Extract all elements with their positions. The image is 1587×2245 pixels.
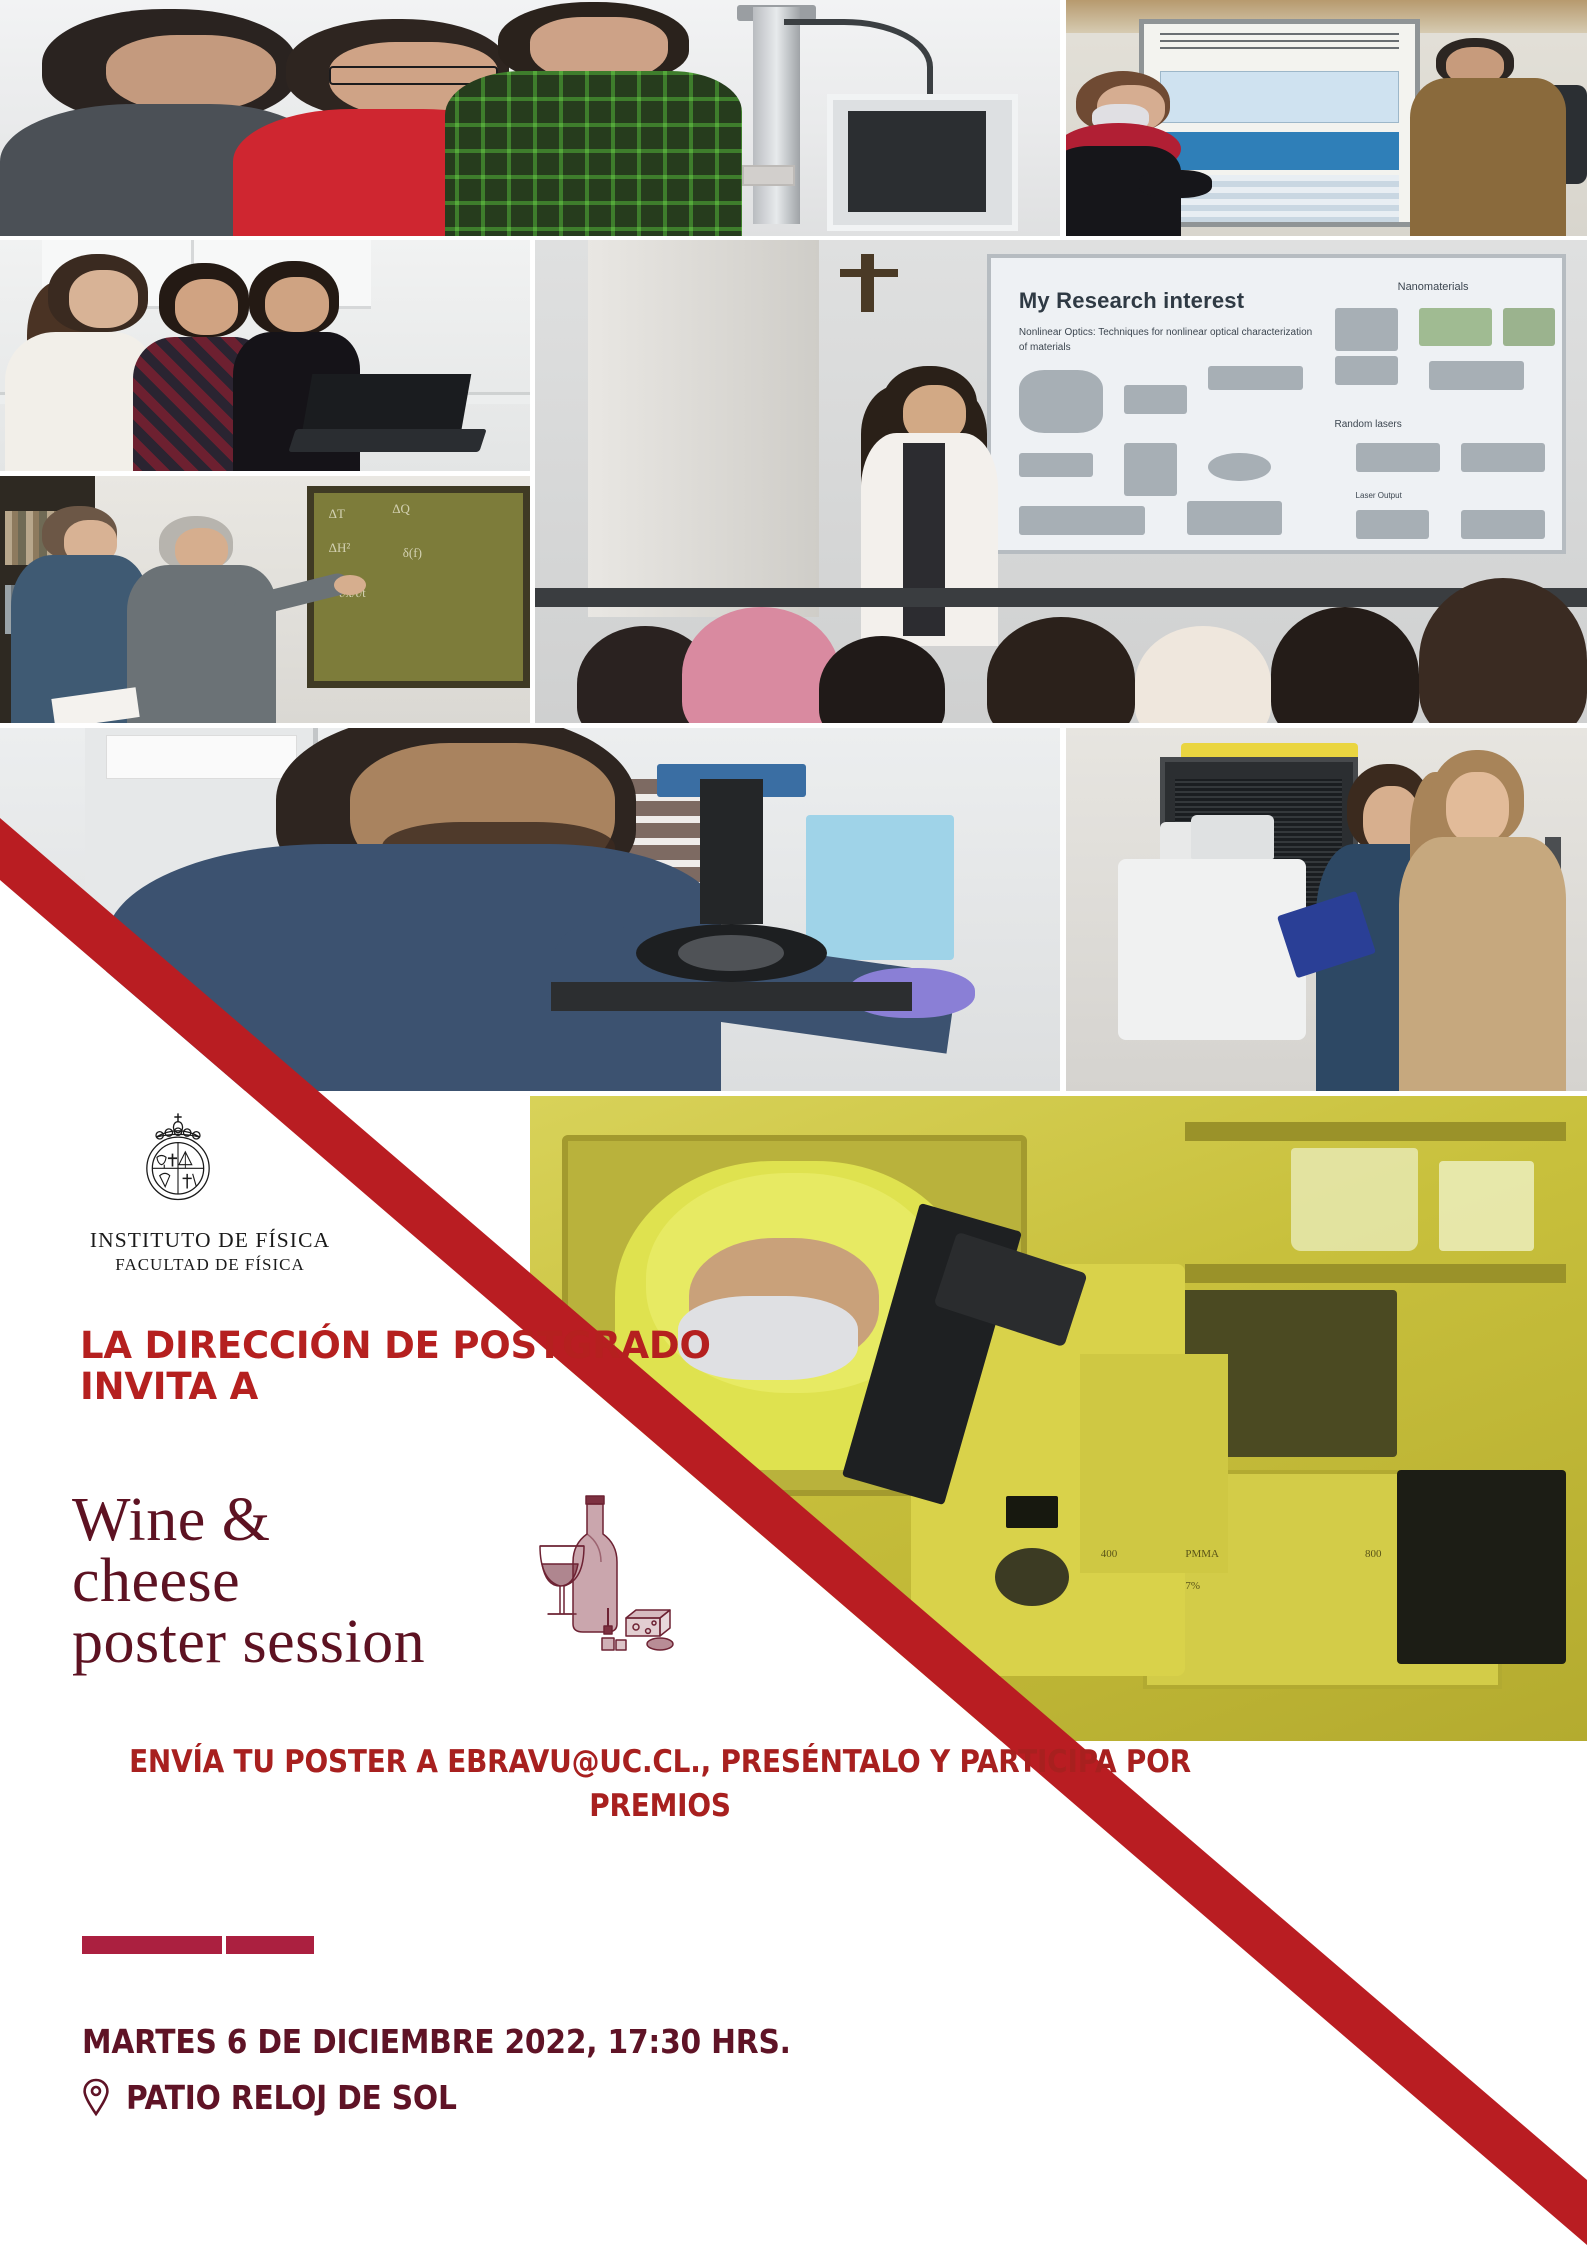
divider-segment-1 <box>82 1936 222 1954</box>
event-location-label: PATIO RELOJ DE SOL <box>126 2078 457 2117</box>
wine-bottle-glass-cheese-icon <box>518 1468 678 1658</box>
map-pin-icon <box>82 2077 110 2117</box>
page-title: LA DIRECCIÓN DE POSTGRADO INVITA A <box>80 1325 840 1408</box>
divider-segment-2 <box>226 1936 314 1954</box>
poster-root: My Research interest Nonlinear Optics: T… <box>0 0 1587 2245</box>
call-to-action-text: ENVÍA TU POSTER A EBRAVU@UC.CL., PRESÉNT… <box>60 1740 1260 1828</box>
faculty-name: FACULTAD DE FÍSICA <box>60 1255 360 1275</box>
institute-name: INSTITUTO DE FÍSICA <box>60 1228 360 1253</box>
poster-content: INSTITUTO DE FÍSICA FACULTAD DE FÍSICA L… <box>0 0 1587 2245</box>
event-location: PATIO RELOJ DE SOL <box>82 2077 457 2117</box>
divider <box>82 1936 314 1954</box>
uc-crest-icon <box>132 1106 224 1216</box>
event-date: MARTES 6 DE DICIEMBRE 2022, 17:30 HRS. <box>82 2022 791 2061</box>
